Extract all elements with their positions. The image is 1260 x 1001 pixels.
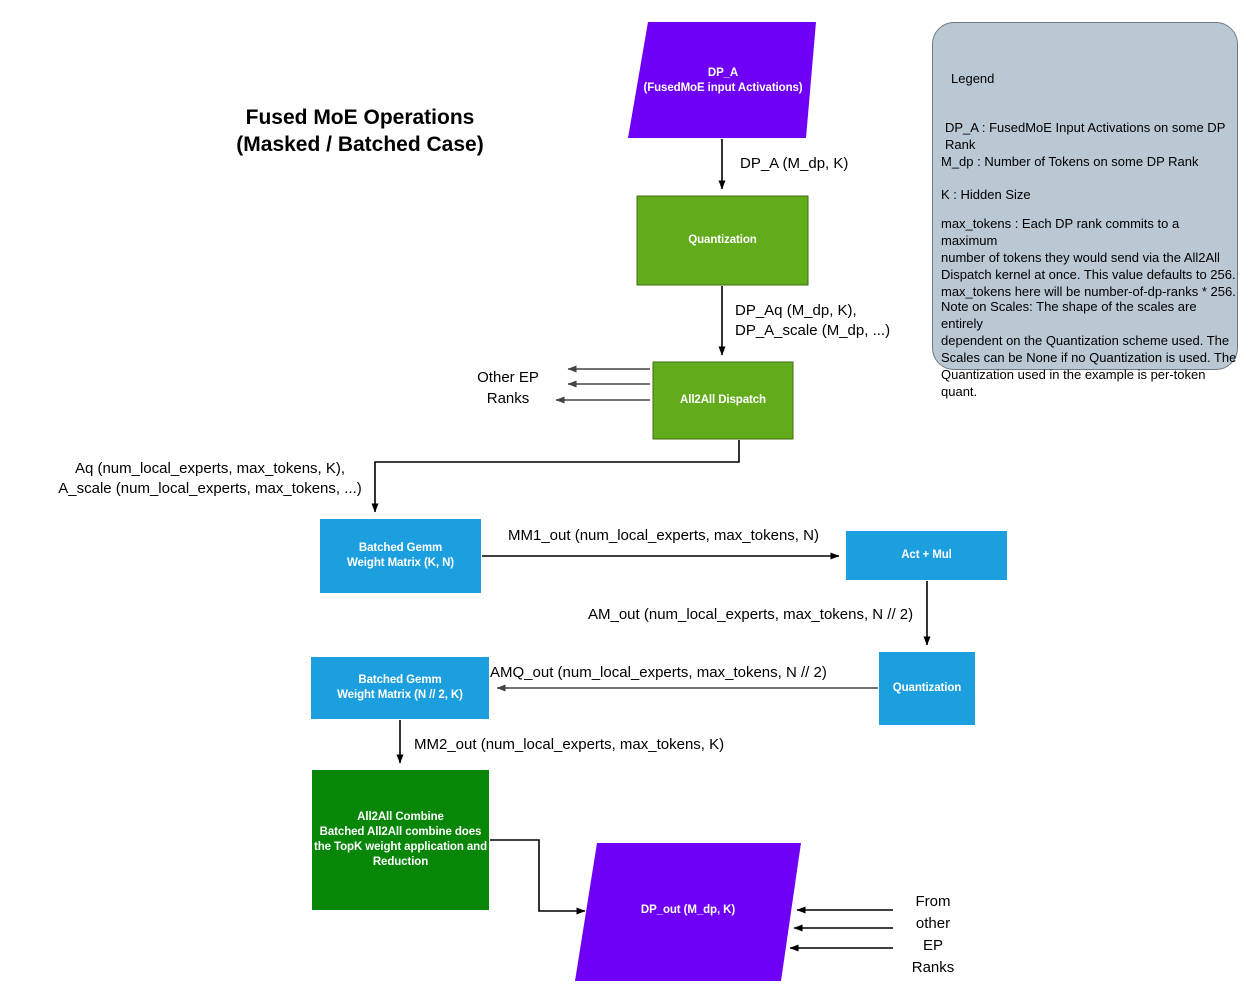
legend-title: Legend xyxy=(951,71,994,86)
page-title: Fused MoE Operations (Masked / Batched C… xyxy=(190,104,530,158)
node-all2all-dispatch-shape xyxy=(653,362,793,439)
node-all2all-combine-shape xyxy=(312,770,489,910)
edge-label-mm2-out: MM2_out (num_local_experts, max_tokens, … xyxy=(414,735,764,755)
edge-label-mm1-out: MM1_out (num_local_experts, max_tokens, … xyxy=(508,526,838,546)
legend-entry-max-tokens: max_tokens : Each DP rank commits to a m… xyxy=(941,215,1237,300)
node-batched-gemm-1-shape xyxy=(320,519,481,593)
legend-entry-m-dp: M_dp : Number of Tokens on some DP Rank xyxy=(941,153,1233,170)
node-dp-out-shape xyxy=(575,843,801,981)
node-quantization-2-shape xyxy=(879,652,975,725)
node-dp-a-shape xyxy=(628,22,816,138)
edge-label-amq-out: AMQ_out (num_local_experts, max_tokens, … xyxy=(490,663,870,683)
legend-entry-k: K : Hidden Size xyxy=(941,186,1233,203)
diagram-canvas: Fused MoE Operations (Masked / Batched C… xyxy=(0,0,1260,1001)
edge-dispatch-to-batched-gemm-1 xyxy=(375,440,739,512)
node-quantization-1-shape xyxy=(637,196,808,285)
label-from-other-ep-ranks: From other EP Ranks xyxy=(900,891,966,979)
edge-combine-to-dp-out xyxy=(490,840,585,911)
node-batched-gemm-2-shape xyxy=(311,657,489,719)
label-other-ep-ranks: Other EP Ranks xyxy=(466,367,550,409)
legend-entry-note-on-scales: Note on Scales: The shape of the scales … xyxy=(941,298,1237,400)
legend-panel: Legend DP_A : FusedMoE Input Activations… xyxy=(932,22,1238,370)
edge-label-am-out: AM_out (num_local_experts, max_tokens, N… xyxy=(588,605,928,625)
node-act-mul-shape xyxy=(846,531,1007,580)
edge-label-dispatch-out: Aq (num_local_experts, max_tokens, K), A… xyxy=(30,459,390,499)
legend-entry-dp-a: DP_A : FusedMoE Input Activations on som… xyxy=(945,119,1237,153)
